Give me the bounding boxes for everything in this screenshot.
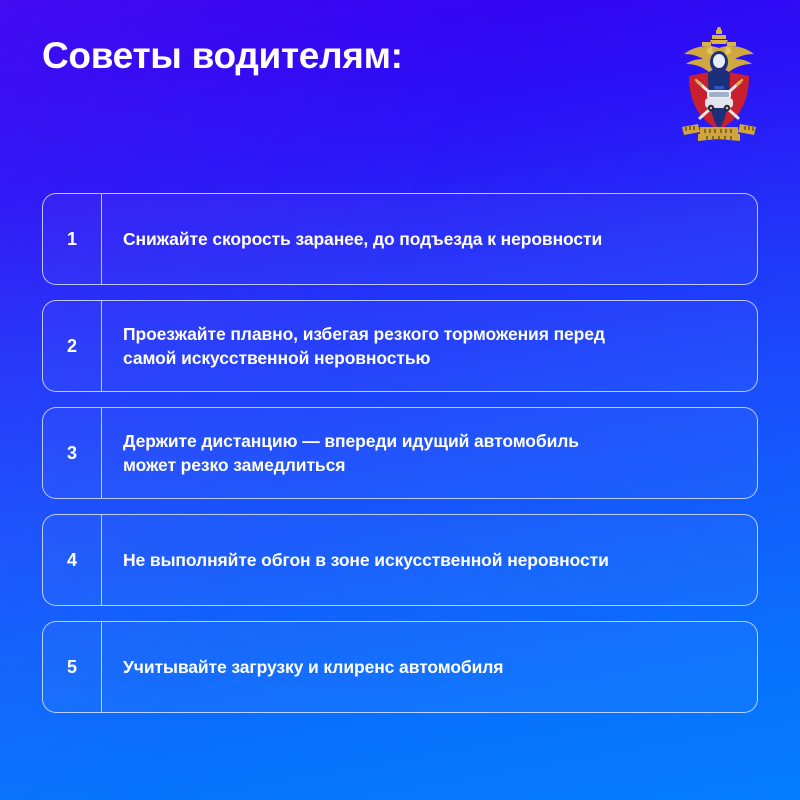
tip-text: Проезжайте плавно, избегая резкого тормо… (102, 301, 757, 391)
tips-list: 1 Снижайте скорость заранее, до подъезда… (42, 193, 758, 713)
mvd-gibdd-emblem-icon (676, 26, 762, 142)
list-item: 1 Снижайте скорость заранее, до подъезда… (42, 193, 758, 285)
tip-number: 3 (43, 408, 102, 498)
tip-number: 2 (43, 301, 102, 391)
tip-line: Учитывайте загрузку и клиренс автомобиля (123, 655, 503, 679)
page-title: Советы водителям: (42, 36, 403, 77)
list-item: 5 Учитывайте загрузку и клиренс автомоби… (42, 621, 758, 713)
poster-root: Советы водителям: (0, 0, 800, 800)
tip-line: самой искусственной неровностью (123, 346, 605, 370)
tip-number: 5 (43, 622, 102, 712)
tip-line: может резко замедлиться (123, 453, 579, 477)
list-item: 2 Проезжайте плавно, избегая резкого тор… (42, 300, 758, 392)
list-item: 4 Не выполняйте обгон в зоне искусственн… (42, 514, 758, 606)
tip-text: Учитывайте загрузку и клиренс автомобиля (102, 622, 757, 712)
tip-line: Снижайте скорость заранее, до подъезда к… (123, 227, 602, 251)
tip-text: Не выполняйте обгон в зоне искусственной… (102, 515, 757, 605)
tip-line: Держите дистанцию — впереди идущий автом… (123, 429, 579, 453)
tip-line: Проезжайте плавно, избегая резкого тормо… (123, 322, 605, 346)
tip-text: Держите дистанцию — впереди идущий автом… (102, 408, 757, 498)
list-item: 3 Держите дистанцию — впереди идущий авт… (42, 407, 758, 499)
tip-line: Не выполняйте обгон в зоне искусственной… (123, 548, 609, 572)
tip-number: 4 (43, 515, 102, 605)
tip-number: 1 (43, 194, 102, 284)
poster-header: Советы водителям: (0, 0, 800, 170)
tip-text: Снижайте скорость заранее, до подъезда к… (102, 194, 757, 284)
